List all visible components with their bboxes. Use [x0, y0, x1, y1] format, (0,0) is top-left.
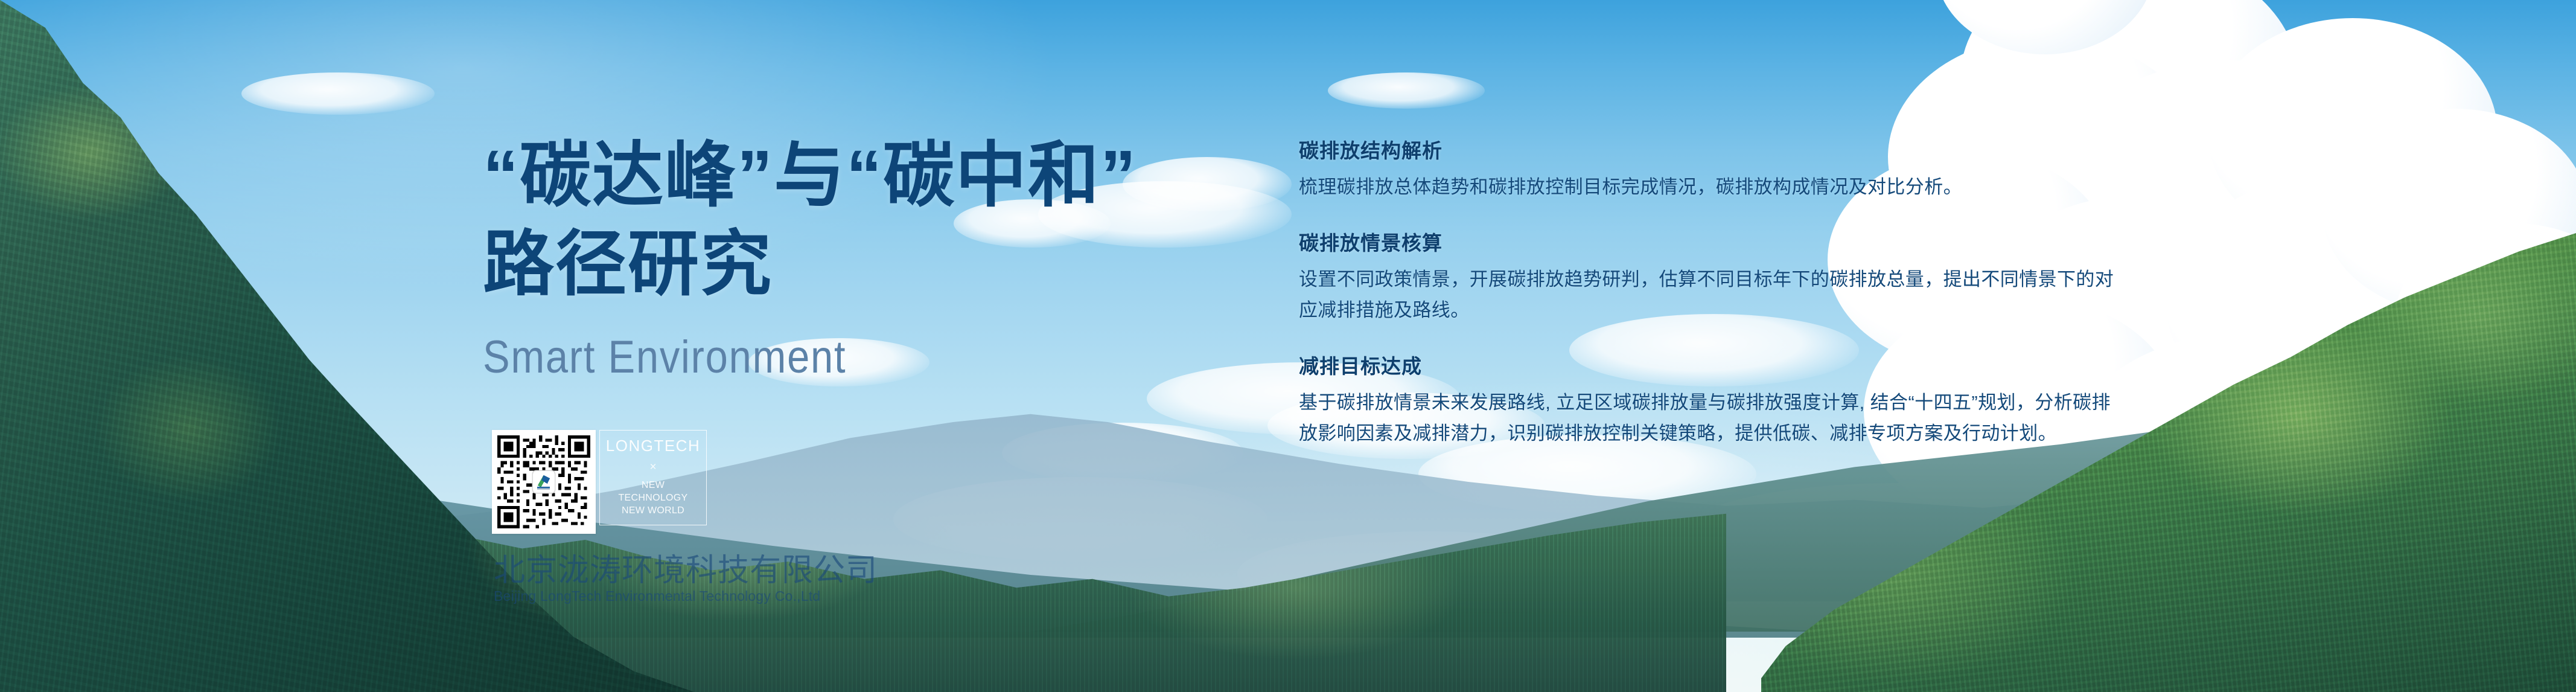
brand-tagline-line-3: NEW WORLD — [618, 505, 687, 517]
brand-tagline: NEW TECHNOLOGY NEW WORLD — [618, 479, 687, 517]
feature-point-body: 设置不同政策情景，开展碳排放趋势研判，估算不同目标年下的碳排放总量，提出不同情景… — [1299, 264, 2126, 326]
cloud-wisp — [241, 72, 435, 115]
qr-brand-group: LONGTECH × NEW TECHNOLOGY NEW WORLD — [492, 430, 707, 534]
feature-point-body: 梳理碳排放总体趋势和碳排放控制目标完成情况，碳排放构成情况及对比分析。 — [1299, 171, 2126, 202]
cloud-wisp — [1328, 72, 1485, 109]
brand-tagline-line-1: NEW — [618, 479, 687, 492]
qr-code-icon[interactable] — [492, 430, 596, 534]
feature-point-item: 减排目标达成 基于碳排放情景未来发展路线, 立足区域碳排放量与碳排放强度计算, … — [1299, 353, 2126, 449]
hero-subtitle: Smart Environment — [483, 335, 1109, 380]
brand-tagline-line-2: TECHNOLOGY — [618, 492, 687, 505]
hero-title-block: “碳达峰”与“碳中和” 路径研究 Smart Environment — [483, 130, 1195, 380]
feature-point-title: 碳排放结构解析 — [1299, 138, 2126, 165]
feature-point-title: 碳排放情景核算 — [1299, 230, 2126, 257]
brand-separator-icon: × — [649, 461, 656, 473]
feature-point-item: 碳排放结构解析 梳理碳排放总体趋势和碳排放控制目标完成情况，碳排放构成情况及对比… — [1299, 138, 2126, 202]
qr-code-matrix — [497, 435, 590, 528]
feature-point-item: 碳排放情景核算 设置不同政策情景，开展碳排放趋势研判，估算不同目标年下的碳排放总… — [1299, 230, 2126, 325]
longtech-logo-icon — [532, 470, 555, 493]
brand-name: LONGTECH — [606, 438, 700, 453]
feature-point-body: 基于碳排放情景未来发展路线, 立足区域碳排放量与碳排放强度计算, 结合“十四五”… — [1299, 387, 2126, 449]
page-title-line-2: 路径研究 — [483, 219, 1195, 311]
brand-card: LONGTECH × NEW TECHNOLOGY NEW WORLD — [599, 430, 707, 525]
page-title-line-1: “碳达峰”与“碳中和” — [483, 130, 1195, 222]
feature-point-title: 减排目标达成 — [1299, 353, 2126, 380]
feature-points-list: 碳排放结构解析 梳理碳排放总体趋势和碳排放控制目标完成情况，碳排放构成情况及对比… — [1299, 138, 2126, 449]
banner-root: “碳达峰”与“碳中和” 路径研究 Smart Environment 碳排放结构… — [0, 0, 2576, 692]
